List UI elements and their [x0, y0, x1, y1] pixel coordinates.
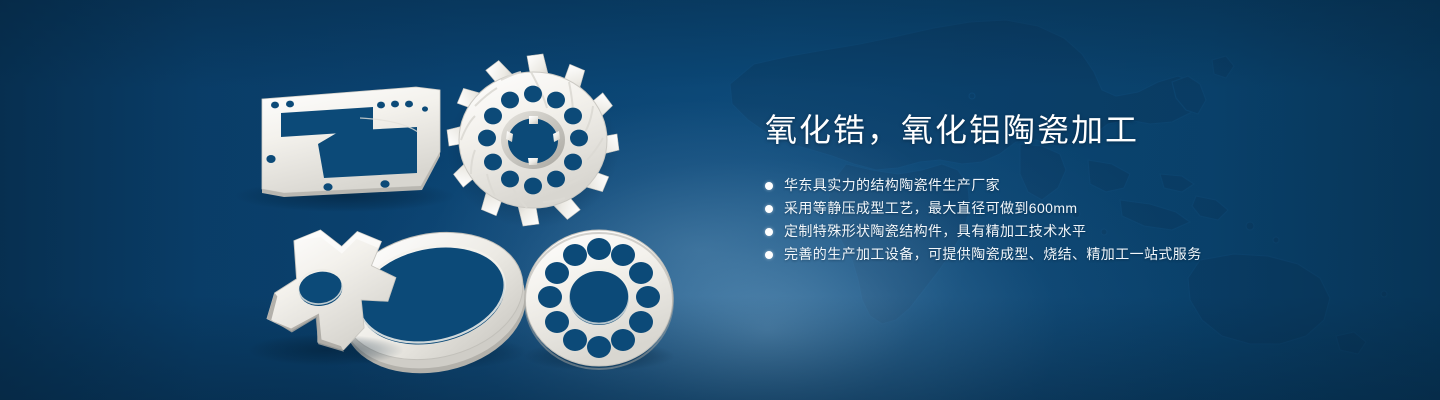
feature-list: 华东具实力的结构陶瓷件生产厂家 采用等静压成型工艺，最大直径可做到600mm 定…	[765, 174, 1385, 266]
bullet-dot-icon	[765, 228, 773, 236]
bullet-dot-icon	[765, 182, 773, 190]
list-item: 华东具实力的结构陶瓷件生产厂家	[765, 174, 1385, 197]
list-item: 采用等静压成型工艺，最大直径可做到600mm	[765, 197, 1385, 220]
ceramic-machined-plate-photo	[235, 87, 455, 212]
list-item-label: 定制特殊形状陶瓷结构件，具有精加工技术水平	[784, 220, 1086, 243]
ceramic-impeller-disc-photo	[447, 54, 619, 228]
bullet-dot-icon	[765, 251, 773, 259]
list-item-label: 完善的生产加工设备，可提供陶瓷成型、烧结、精加工一站式服务	[784, 243, 1202, 266]
bullet-dot-icon	[765, 205, 773, 213]
ceramic-cross-plate-photo	[248, 219, 407, 366]
product-photo-cluster	[0, 0, 740, 400]
list-item: 完善的生产加工设备，可提供陶瓷成型、烧结、精加工一站式服务	[765, 243, 1385, 266]
list-item-label: 采用等静压成型工艺，最大直径可做到600mm	[784, 197, 1077, 220]
banner-copy: 氧化锆，氧化铝陶瓷加工 华东具实力的结构陶瓷件生产厂家 采用等静压成型工艺，最大…	[765, 108, 1385, 266]
hero-banner: 氧化锆，氧化铝陶瓷加工 华东具实力的结构陶瓷件生产厂家 采用等静压成型工艺，最大…	[0, 0, 1440, 400]
list-item: 定制特殊形状陶瓷结构件，具有精加工技术水平	[765, 220, 1385, 243]
page-title: 氧化锆，氧化铝陶瓷加工	[765, 108, 1385, 152]
ceramic-hole-disc-photo	[523, 230, 675, 371]
list-item-label: 华东具实力的结构陶瓷件生产厂家	[784, 174, 1000, 197]
